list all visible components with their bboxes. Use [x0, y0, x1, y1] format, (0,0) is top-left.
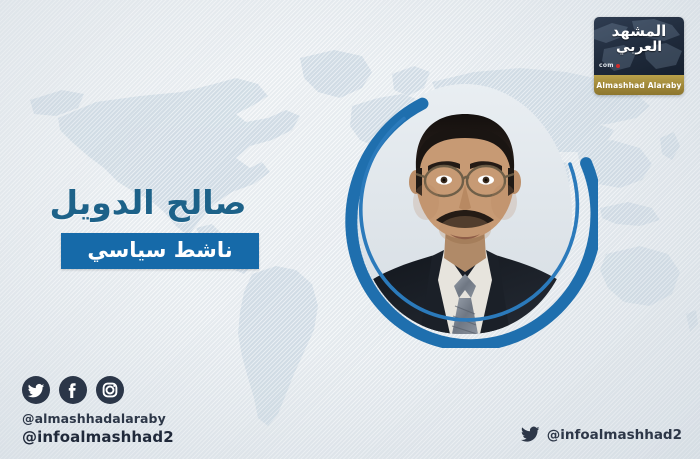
- logo-com-label: com: [599, 62, 614, 69]
- footer-handle-text: @infoalmashhad2: [547, 427, 682, 443]
- avatar: [358, 84, 572, 334]
- logo-arabic-line2: العربي: [594, 40, 684, 56]
- role-badge: ناشط سياسي: [61, 233, 258, 269]
- logo-latin-name: Almashhad Alaraby: [594, 75, 684, 95]
- social-block: @almashhadalaraby @infoalmashhad2: [22, 376, 174, 447]
- portrait-container: [340, 78, 590, 340]
- logo-arabic-text: المشهد العربي: [594, 23, 684, 55]
- identity-block: صالح الدويل ناشط سياسي: [0, 186, 320, 269]
- twitter-icon[interactable]: [22, 376, 50, 404]
- social-icon-row: [22, 376, 174, 404]
- logo-dark-panel: المشهد العربي com: [594, 17, 684, 75]
- brand-logo[interactable]: المشهد العربي com Almashhad Alaraby: [594, 17, 684, 95]
- page-title: صالح الدويل: [0, 186, 320, 221]
- logo-red-dot: [616, 64, 620, 68]
- social-handle-primary[interactable]: @almashhadalaraby: [22, 411, 174, 428]
- social-handle-secondary[interactable]: @infoalmashhad2: [22, 428, 174, 448]
- logo-arabic-line1: المشهد: [594, 23, 684, 40]
- social-media-card: صالح الدويل ناشط سياسي المشهد العربي com…: [0, 0, 700, 459]
- twitter-icon: [521, 426, 540, 443]
- facebook-icon[interactable]: [59, 376, 87, 404]
- instagram-icon[interactable]: [96, 376, 124, 404]
- footer-twitter-handle[interactable]: @infoalmashhad2: [521, 426, 682, 443]
